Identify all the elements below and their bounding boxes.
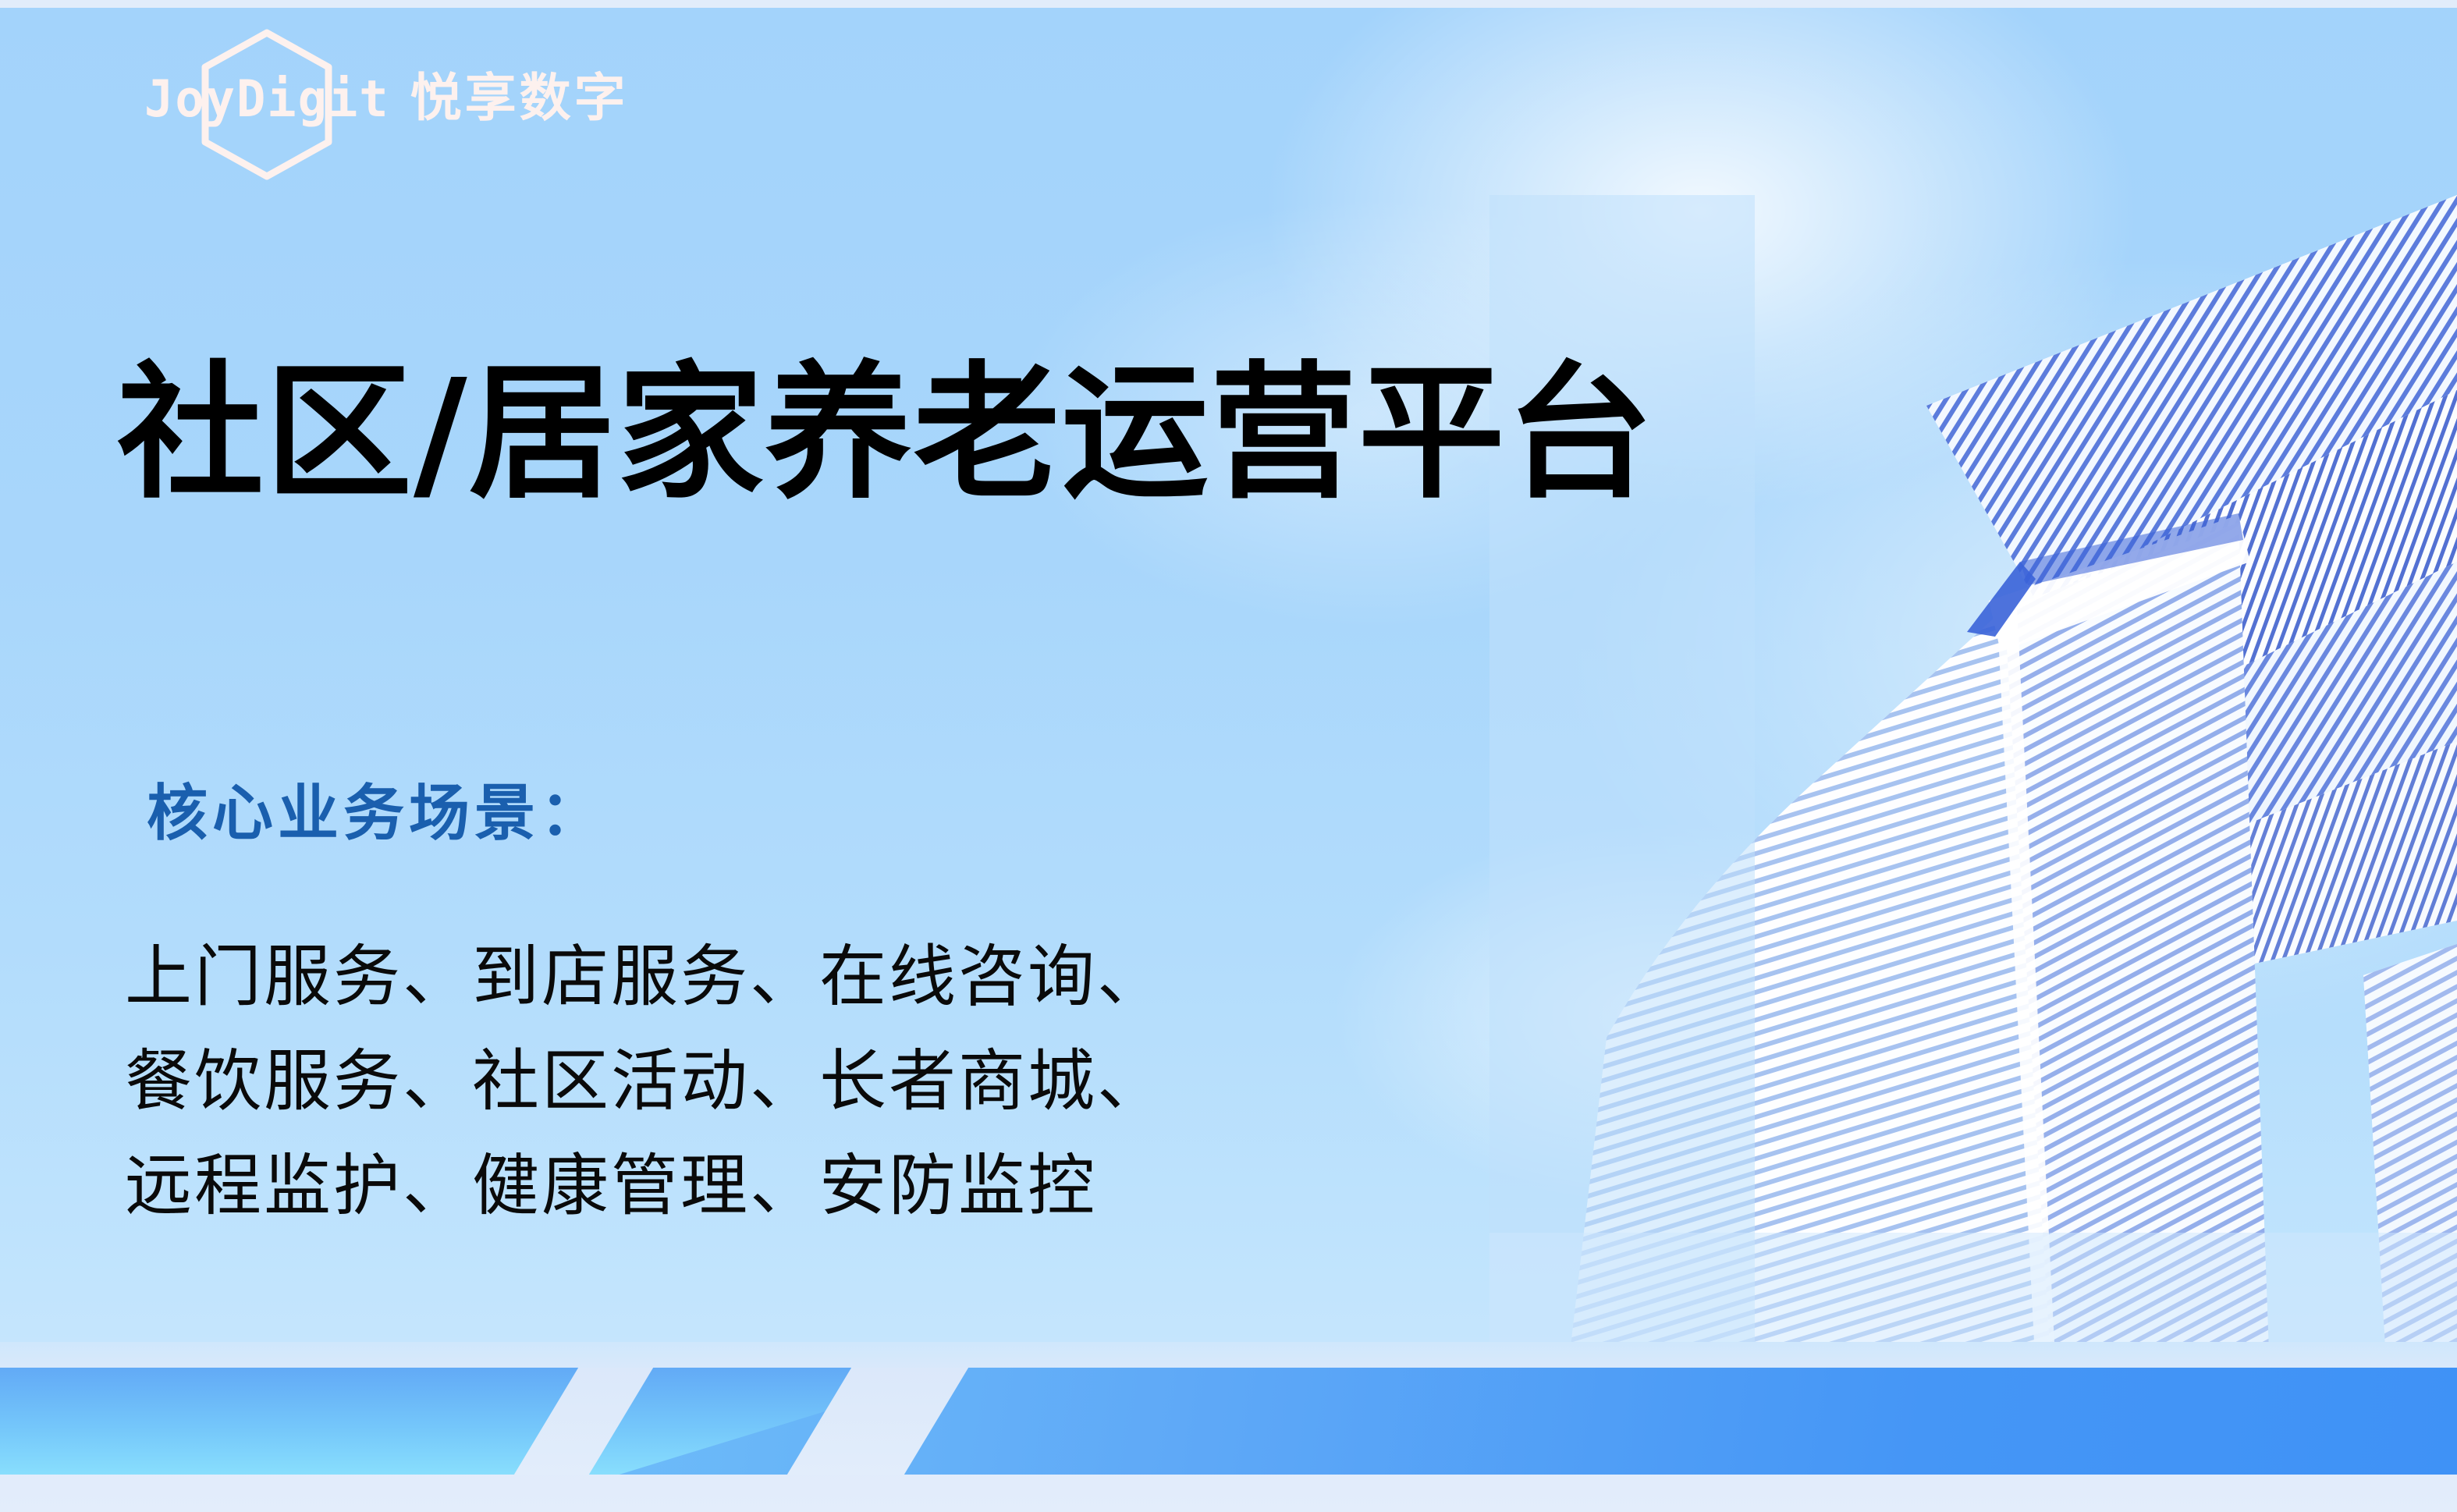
brand-logo: JoyDigit 悦享数字 [144,23,675,140]
section-subtitle: 核心业务场景： [147,765,605,852]
top-edge-strip [0,0,2457,8]
brand-logo-cn: 悦享数字 [410,56,629,131]
bottom-decorative-band [0,1342,2457,1512]
brand-logo-text: JoyDigit 悦享数字 [144,56,629,131]
page-title: 社区/居家养老运营平台 [117,356,1655,511]
slide-canvas: JoyDigit 悦享数字 社区/居家养老运营平台 核心业务场景： 上门服务、到… [0,0,2457,1512]
scenario-line-1: 上门服务、到店服务、在线咨询、 [125,925,1166,1029]
scenario-line-3: 远程监护、健康管理、安防监控 [125,1134,1166,1238]
brand-logo-en: JoyDigit [144,69,390,129]
scenario-list: 上门服务、到店服务、在线咨询、 餐饮服务、社区活动、长者商城、 远程监护、健康管… [125,925,1166,1238]
scenario-line-2: 餐饮服务、社区活动、长者商城、 [125,1029,1166,1134]
